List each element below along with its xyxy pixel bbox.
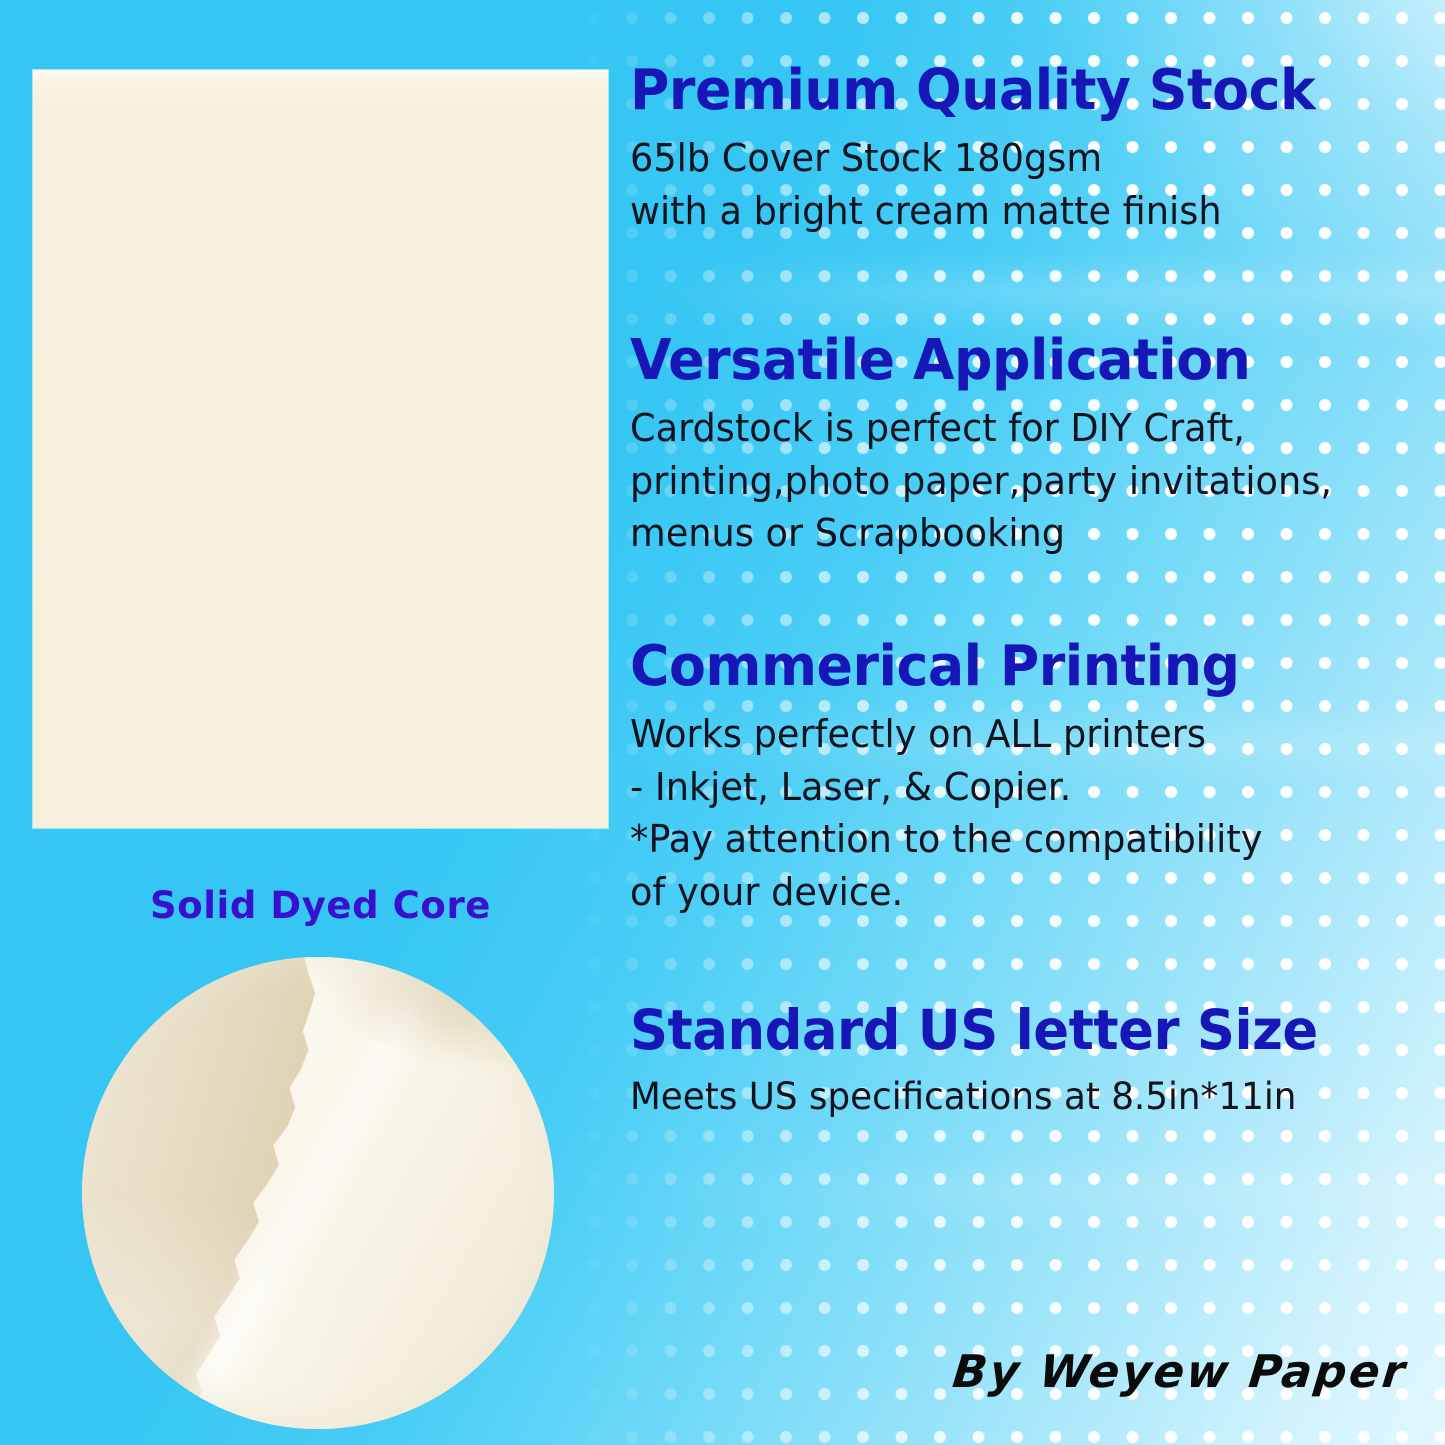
feature-body: Works perfectly on ALL printers - Inkjet…: [630, 708, 1416, 918]
feature-heading: Versatile Application: [630, 332, 1412, 390]
brand-signature: By Weyew Paper: [950, 1345, 1410, 1398]
feature-heading: Standard US letter Size: [630, 1002, 1412, 1059]
feature-body-line: *Pay attention to the compatibility: [630, 813, 1416, 865]
feature-body-line: 65lb Cover Stock 180gsm: [630, 132, 1416, 184]
feature-body: 65lb Cover Stock 180gsm with a bright cr…: [630, 132, 1416, 237]
torn-edge-detail-photo: [82, 957, 554, 1429]
product-infographic: Solid Dyed Core Premium Quality Stock 65…: [0, 0, 1445, 1445]
feature-body: Meets US specifications at 8.5in*11in: [630, 1071, 1416, 1122]
feature-heading: Commerical Printing: [630, 638, 1412, 696]
feature-body-line: printing,photo paper,party invitations,: [630, 455, 1416, 507]
feature-heading: Premium Quality Stock: [630, 62, 1412, 120]
feature-body-line: - Inkjet, Laser, & Copier.: [630, 761, 1416, 813]
feature-body-line: Cardstock is perfect for DIY Craft,: [630, 402, 1416, 454]
feature-block-standard-us-letter-size: Standard US letter Size Meets US specifi…: [630, 1002, 1445, 1122]
feature-body-line: with a bright cream matte finish: [630, 185, 1416, 237]
solid-dyed-core-caption: Solid Dyed Core: [33, 884, 608, 927]
feature-body-line: menus or Scrapbooking: [630, 507, 1416, 559]
cardstock-swatch-image: [33, 70, 608, 828]
feature-body: Cardstock is perfect for DIY Craft, prin…: [630, 402, 1416, 559]
photo-vignette: [82, 957, 554, 1429]
feature-body-line: Works perfectly on ALL printers: [630, 708, 1416, 760]
feature-block-premium-quality-stock: Premium Quality Stock 65lb Cover Stock 1…: [630, 62, 1445, 237]
feature-list: Premium Quality Stock 65lb Cover Stock 1…: [630, 0, 1445, 1445]
feature-block-commerical-printing: Commerical Printing Works perfectly on A…: [630, 638, 1445, 918]
feature-body-line: Meets US specifications at 8.5in*11in: [630, 1071, 1416, 1122]
feature-block-versatile-application: Versatile Application Cardstock is perfe…: [630, 332, 1445, 560]
feature-body-line: of your device.: [630, 866, 1416, 918]
